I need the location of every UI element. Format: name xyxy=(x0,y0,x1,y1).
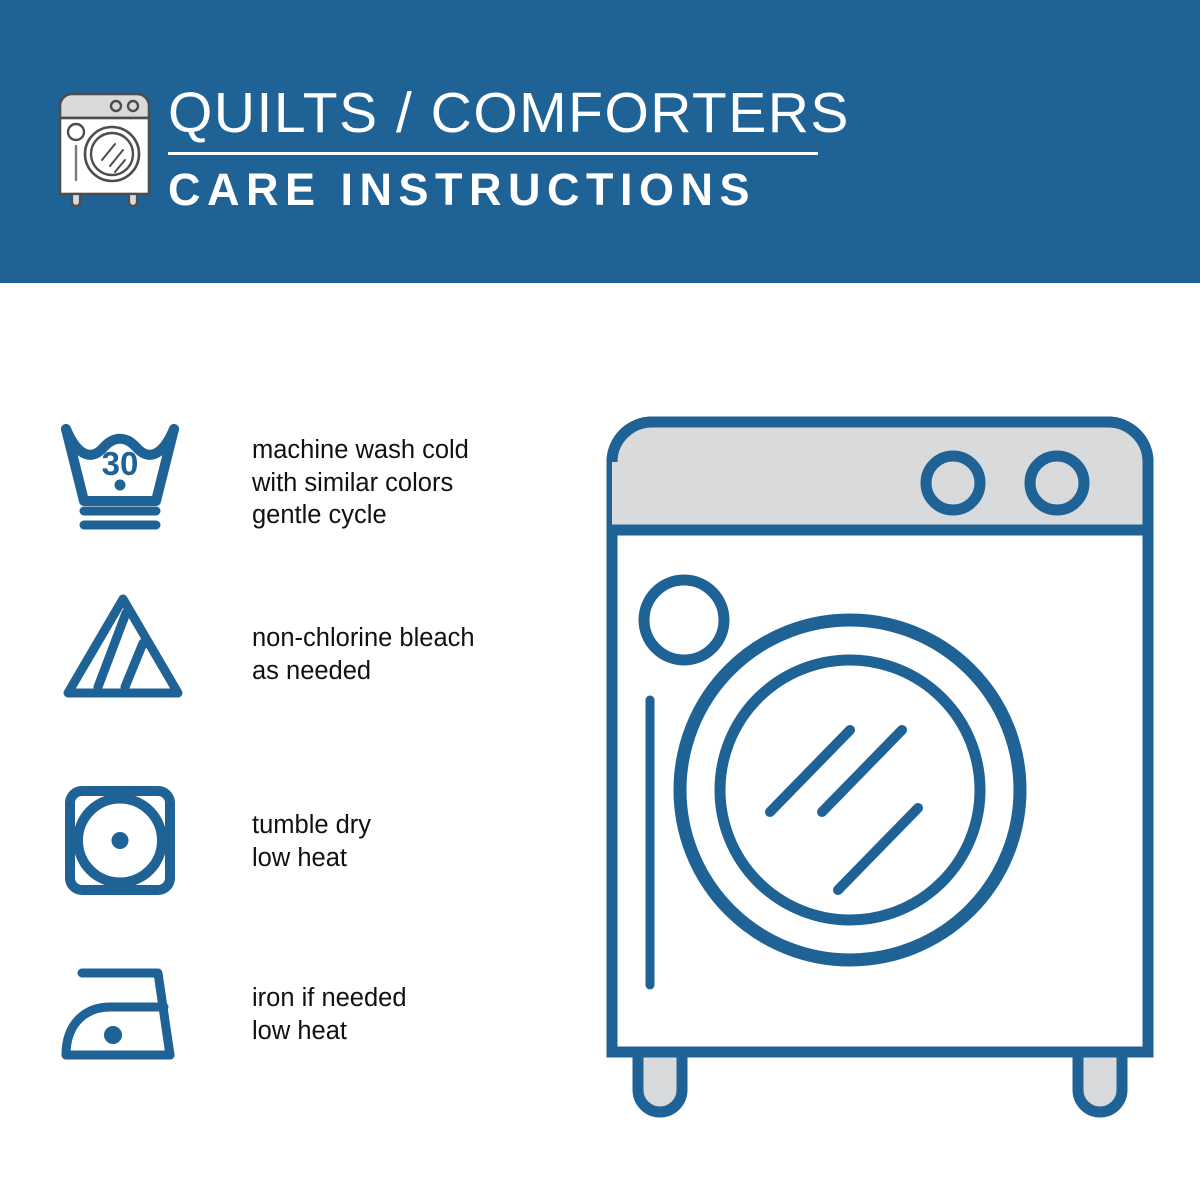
leg-left xyxy=(638,1052,682,1112)
front-load-washing-machine-illustration xyxy=(590,400,1170,1120)
leg-right xyxy=(1078,1052,1122,1112)
header-band: QUILTS / COMFORTERS CARE INSTRUCTIONS xyxy=(0,0,1200,283)
care-row-iron: iron if needed low heat xyxy=(58,955,407,1070)
header-text-block: QUILTS / COMFORTERS CARE INSTRUCTIONS xyxy=(168,80,828,216)
washing-machine-icon xyxy=(52,84,157,209)
title-divider xyxy=(168,152,818,155)
care-instructions-infographic: QUILTS / COMFORTERS CARE INSTRUCTIONS 30 xyxy=(0,0,1200,1200)
iron-icon xyxy=(58,955,188,1070)
control-panel xyxy=(612,422,1148,530)
care-symbol-list: 30 machine wash cold with similar colors… xyxy=(0,283,560,1200)
wash-tub-icon: 30 xyxy=(58,417,188,532)
care-label-bleach: non-chlorine bleach as needed xyxy=(252,622,475,687)
bleach-triangle-icon xyxy=(58,591,188,706)
care-row-tumble-dry: tumble dry low heat xyxy=(58,783,371,898)
care-row-bleach: non-chlorine bleach as needed xyxy=(58,591,475,706)
wash-temp-dot xyxy=(115,480,126,491)
care-label-iron: iron if needed low heat xyxy=(252,982,407,1047)
page-title: QUILTS / COMFORTERS xyxy=(168,80,828,146)
dry-heat-dot xyxy=(112,832,129,849)
iron-heat-dot xyxy=(104,1026,122,1044)
care-label-machine-wash: machine wash cold with similar colors ge… xyxy=(252,434,469,532)
wash-temp-value: 30 xyxy=(102,445,139,482)
tumble-dry-icon xyxy=(58,783,188,898)
care-label-tumble-dry: tumble dry low heat xyxy=(252,809,371,874)
page-subtitle: CARE INSTRUCTIONS xyxy=(168,164,828,216)
care-row-machine-wash: 30 machine wash cold with similar colors… xyxy=(58,417,469,532)
